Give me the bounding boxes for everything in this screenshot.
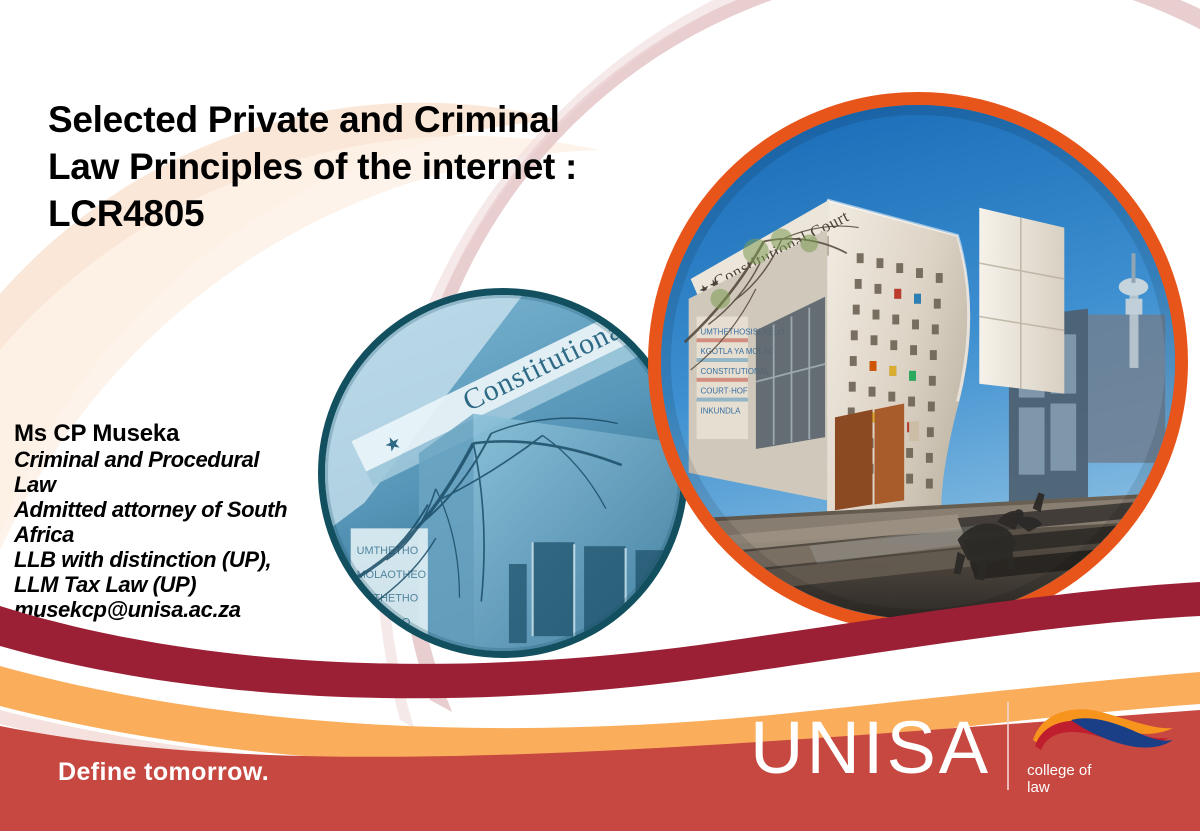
logo-sublabel-line2: law [1027, 779, 1177, 796]
page-title: Selected Private and Criminal Law Princi… [48, 96, 708, 237]
title-slide: Constitutional ★ UMTHETH [0, 0, 1200, 831]
svg-text:COURT·HOF: COURT·HOF [701, 387, 748, 396]
unisa-swoosh-icon [1027, 700, 1177, 756]
wave-maroon [0, 582, 1200, 698]
svg-text:INKUNDLA: INKUNDLA [701, 406, 742, 415]
logo-sublabel-line1: college of [1027, 762, 1177, 779]
presenter-detail-4: Africa [14, 522, 326, 547]
title-line-3: LCR4805 [48, 190, 708, 237]
title-line-1: Selected Private and Criminal [48, 96, 708, 143]
unisa-wordmark: UNISA [750, 712, 991, 784]
tagline: Define tomorrow. [58, 758, 269, 787]
title-line-2: Law Principles of the internet : [48, 143, 708, 190]
presenter-detail-2: Law [14, 472, 326, 497]
presenter-detail-1: Criminal and Procedural [14, 447, 326, 472]
presenter-name: Ms CP Museka [14, 420, 326, 447]
presenter-detail-3: Admitted attorney of South [14, 497, 326, 522]
unisa-logo: UNISA college of law [750, 700, 1177, 796]
logo-divider [1007, 702, 1009, 790]
main-photo-constitutional-court: Constitutional Court ★★ UMTHETHOSISEKELO… [648, 92, 1188, 632]
